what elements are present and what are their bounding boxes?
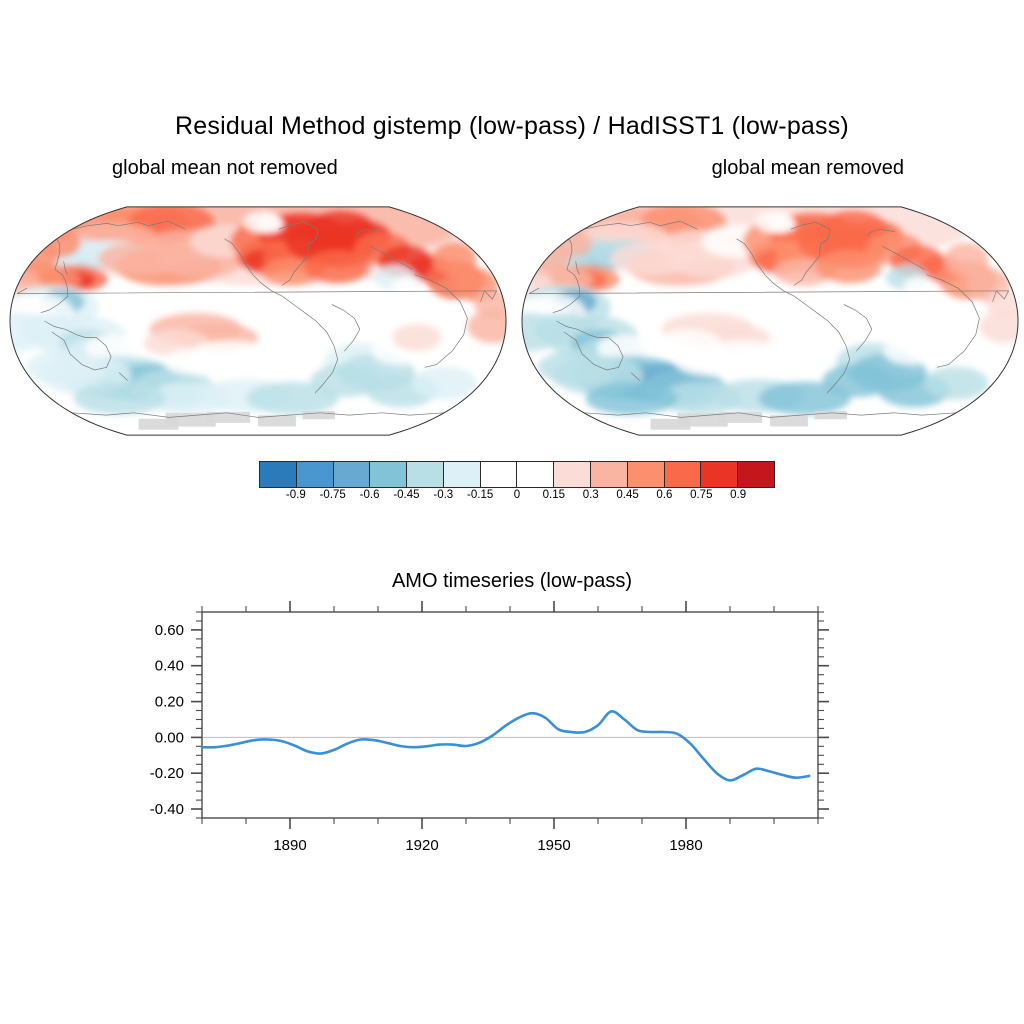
- colorbar-tick-label: 0.45: [616, 489, 638, 501]
- colorbar-cell: [260, 462, 297, 487]
- colorbar-tick-label: 0.75: [690, 489, 712, 501]
- panel-label-left: global mean not removed: [112, 157, 338, 180]
- y-axis: 0.600.400.200.00-0.20-0.40: [150, 612, 829, 818]
- x-axis: 1890192019501980: [202, 601, 818, 854]
- map-right-svg: [516, 190, 1024, 455]
- figure-main-title: Residual Method gistemp (low-pass) / Had…: [0, 112, 1024, 141]
- colorbar-cell: [591, 462, 628, 487]
- colorbar-tick-label: -0.45: [393, 489, 419, 501]
- colorbar-tick-labels: -0.9-0.75-0.6-0.45-0.3-0.1500.150.30.450…: [259, 489, 775, 507]
- colorbar-tick-label: 0: [514, 489, 520, 501]
- colorbar-cells: [259, 461, 775, 488]
- y-tick-label: 0.40: [155, 658, 184, 675]
- colorbar-tick-label: -0.15: [467, 489, 493, 501]
- timeseries-plot: 0.600.400.200.00-0.20-0.4018901920195019…: [0, 560, 1024, 860]
- colorbar-tick-label: 0.15: [543, 489, 565, 501]
- figure-canvas: Residual Method gistemp (low-pass) / Had…: [0, 0, 1024, 1024]
- colorbar-cell: [738, 462, 774, 487]
- map-panel-left: [4, 190, 512, 460]
- colorbar-cell: [334, 462, 371, 487]
- colorbar-tick-label: 0.9: [730, 489, 746, 501]
- colorbar-cell: [370, 462, 407, 487]
- colorbar-cell: [628, 462, 665, 487]
- colorbar-tick-label: 0.6: [656, 489, 672, 501]
- colorbar-tick-label: -0.3: [433, 489, 453, 501]
- colorbar-cell: [297, 462, 334, 487]
- x-tick-label: 1980: [669, 837, 702, 854]
- x-tick-label: 1950: [537, 837, 570, 854]
- colorbar-cell: [407, 462, 444, 487]
- colorbar-cell: [444, 462, 481, 487]
- y-tick-label: 0.60: [155, 622, 184, 639]
- y-tick-label: 0.20: [155, 694, 184, 711]
- plot-frame: [202, 612, 818, 818]
- colorbar: [259, 461, 775, 488]
- colorbar-tick-label: -0.9: [286, 489, 306, 501]
- y-tick-label: -0.40: [150, 801, 184, 818]
- amo-series-line: [202, 711, 809, 780]
- colorbar-tick-label: 0.3: [583, 489, 599, 501]
- colorbar-cell: [554, 462, 591, 487]
- colorbar-tick-label: -0.6: [360, 489, 380, 501]
- y-tick-label: 0.00: [155, 729, 184, 746]
- colorbar-cell: [665, 462, 702, 487]
- colorbar-cell: [701, 462, 738, 487]
- colorbar-cell: [481, 462, 518, 487]
- panel-label-right: global mean removed: [712, 157, 904, 180]
- map-left-svg: [4, 190, 512, 455]
- x-tick-label: 1890: [273, 837, 306, 854]
- x-tick-label: 1920: [405, 837, 438, 854]
- map-panel-right: [516, 190, 1024, 460]
- y-tick-label: -0.20: [150, 765, 184, 782]
- colorbar-cell: [517, 462, 554, 487]
- colorbar-tick-label: -0.75: [320, 489, 346, 501]
